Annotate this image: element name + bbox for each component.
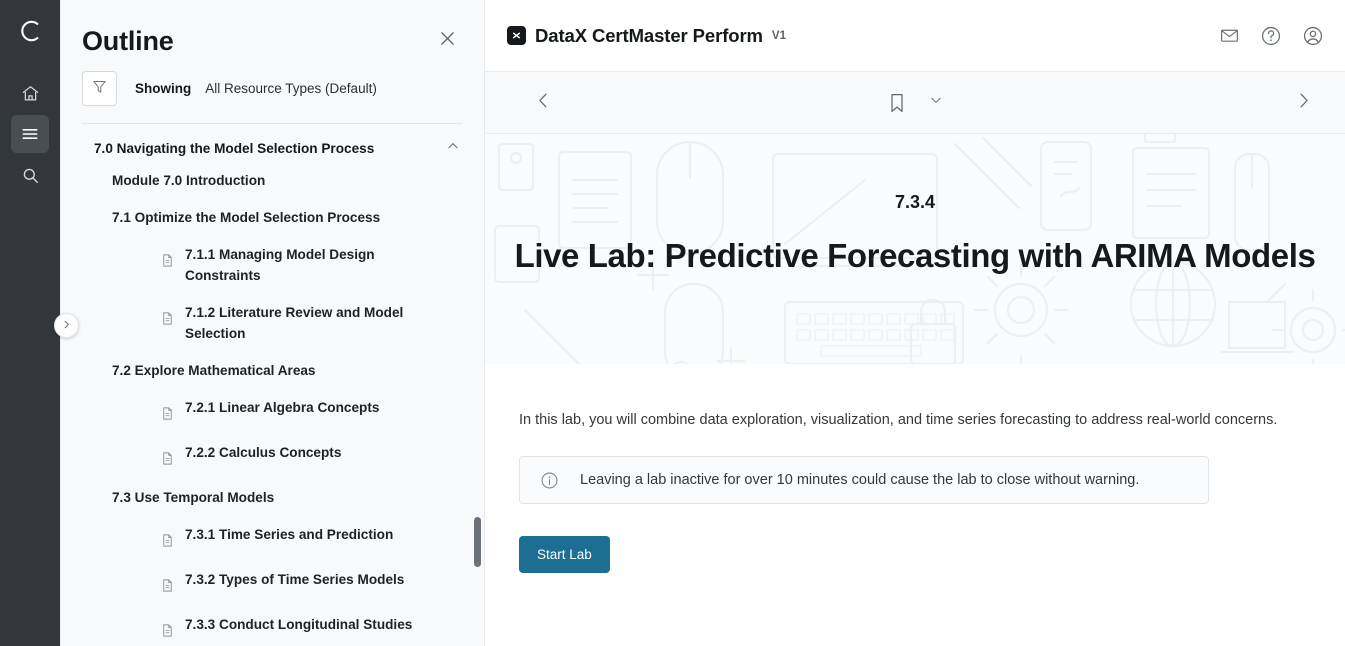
showing-value[interactable]: All Resource Types (Default) xyxy=(205,81,377,96)
document-icon xyxy=(160,311,176,331)
content-navbar xyxy=(485,72,1345,134)
list-item[interactable]: 7.3.1 Time Series and Prediction xyxy=(82,516,462,561)
outline-panel: Outline Showing All Resource T xyxy=(60,0,485,646)
home-icon xyxy=(21,84,40,103)
list-item[interactable]: 7.3.2 Types of Time Series Models xyxy=(82,561,462,606)
bookmark-dropdown-button[interactable] xyxy=(926,93,946,113)
document-icon xyxy=(160,578,176,598)
list-item[interactable]: 7.3 Use Temporal Models xyxy=(82,479,462,516)
list-item-label: 7.3.1 Time Series and Prediction xyxy=(185,524,393,545)
outline-section-label: 7.0 Navigating the Model Selection Proce… xyxy=(94,141,374,156)
start-lab-button[interactable]: Start Lab xyxy=(519,536,610,573)
close-outline-button[interactable] xyxy=(434,28,460,54)
outline-scrollbar-thumb[interactable] xyxy=(474,517,481,567)
list-item[interactable]: 7.3.3 Conduct Longitudinal Studies xyxy=(82,606,462,646)
page-title: Outline xyxy=(82,28,174,55)
bookmark-icon[interactable] xyxy=(884,90,910,116)
chevron-down-icon xyxy=(929,93,943,112)
chevron-left-icon xyxy=(534,91,553,115)
previous-page-button[interactable] xyxy=(523,83,563,123)
app-root: Outline Showing All Resource T xyxy=(0,0,1345,646)
app-topbar: DataX CertMaster Perform V1 xyxy=(485,0,1345,72)
inactivity-notice: Leaving a lab inactive for over 10 minut… xyxy=(519,456,1209,504)
list-item[interactable]: Module 7.0 Introduction xyxy=(82,162,462,199)
chevron-up-icon xyxy=(446,139,460,158)
lesson-title: Live Lab: Predictive Forecasting with AR… xyxy=(515,237,1316,275)
version-badge: V1 xyxy=(772,30,786,42)
list-item[interactable]: 7.2.1 Linear Algebra Concepts xyxy=(82,389,462,434)
collapse-section-button[interactable] xyxy=(444,140,462,158)
filter-funnel-icon xyxy=(91,78,108,100)
mail-icon[interactable] xyxy=(1217,24,1241,48)
inactivity-notice-text: Leaving a lab inactive for over 10 minut… xyxy=(580,472,1139,488)
lesson-number: 7.3.4 xyxy=(895,192,935,213)
list-item[interactable]: 7.2.2 Calculus Concepts xyxy=(82,434,462,479)
outline-scrollbar[interactable] xyxy=(471,124,484,646)
topbar-actions xyxy=(1217,24,1325,48)
outline-section-header[interactable]: 7.0 Navigating the Model Selection Proce… xyxy=(82,124,462,162)
close-icon xyxy=(437,28,458,54)
account-icon[interactable] xyxy=(1301,24,1325,48)
list-item[interactable]: 7.1.2 Literature Review and Model Select… xyxy=(82,294,462,352)
list-item-label: 7.1.2 Literature Review and Model Select… xyxy=(185,302,435,344)
list-item[interactable]: 7.1.1 Managing Model Design Constraints xyxy=(82,236,462,294)
expand-panel-handle[interactable] xyxy=(54,313,79,338)
document-icon xyxy=(160,623,176,643)
outline-list-scroll: 7.0 Navigating the Model Selection Proce… xyxy=(60,124,484,646)
filter-row: Showing All Resource Types (Default) xyxy=(60,55,484,106)
left-nav-rail xyxy=(0,0,60,646)
c-logo-icon[interactable] xyxy=(13,14,47,48)
info-circle-icon xyxy=(540,471,560,490)
help-icon[interactable] xyxy=(1259,24,1283,48)
lesson-banner: 7.3.4 Live Lab: Predictive Forecasting w… xyxy=(485,134,1345,364)
intro-text: In this lab, you will combine data explo… xyxy=(519,410,1305,431)
chevron-right-icon xyxy=(1294,91,1313,115)
chevron-right-icon xyxy=(61,317,72,335)
filter-button[interactable] xyxy=(82,71,117,106)
list-item-label: 7.1.1 Managing Model Design Constraints xyxy=(185,244,435,286)
main-content: DataX CertMaster Perform V1 xyxy=(485,0,1345,646)
outline-header: Outline xyxy=(60,0,484,55)
rail-item-outline[interactable] xyxy=(11,115,49,153)
list-item[interactable]: 7.1 Optimize the Model Selection Process xyxy=(82,199,462,236)
list-item-label: 7.2.2 Calculus Concepts xyxy=(185,442,341,463)
showing-label: Showing xyxy=(135,81,191,96)
lesson-body: In this lab, you will combine data explo… xyxy=(485,364,1345,646)
list-item-label: 7.3.2 Types of Time Series Models xyxy=(185,569,404,590)
brand: DataX CertMaster Perform V1 xyxy=(507,25,786,47)
hamburger-menu-icon xyxy=(20,124,40,144)
document-icon xyxy=(160,451,176,471)
datax-logo-icon xyxy=(507,26,526,45)
list-item[interactable]: 7.2 Explore Mathematical Areas xyxy=(82,352,462,389)
document-icon xyxy=(160,533,176,553)
next-page-button[interactable] xyxy=(1283,83,1323,123)
navbar-center xyxy=(485,90,1345,116)
rail-item-search[interactable] xyxy=(11,156,49,194)
document-icon xyxy=(160,253,176,273)
document-icon xyxy=(160,406,176,426)
list-item-label: 7.2.1 Linear Algebra Concepts xyxy=(185,397,379,418)
rail-item-home[interactable] xyxy=(11,74,49,112)
search-icon xyxy=(21,166,40,185)
list-item-label: 7.3.3 Conduct Longitudinal Studies xyxy=(185,614,412,635)
brand-name: DataX CertMaster Perform xyxy=(535,25,763,47)
